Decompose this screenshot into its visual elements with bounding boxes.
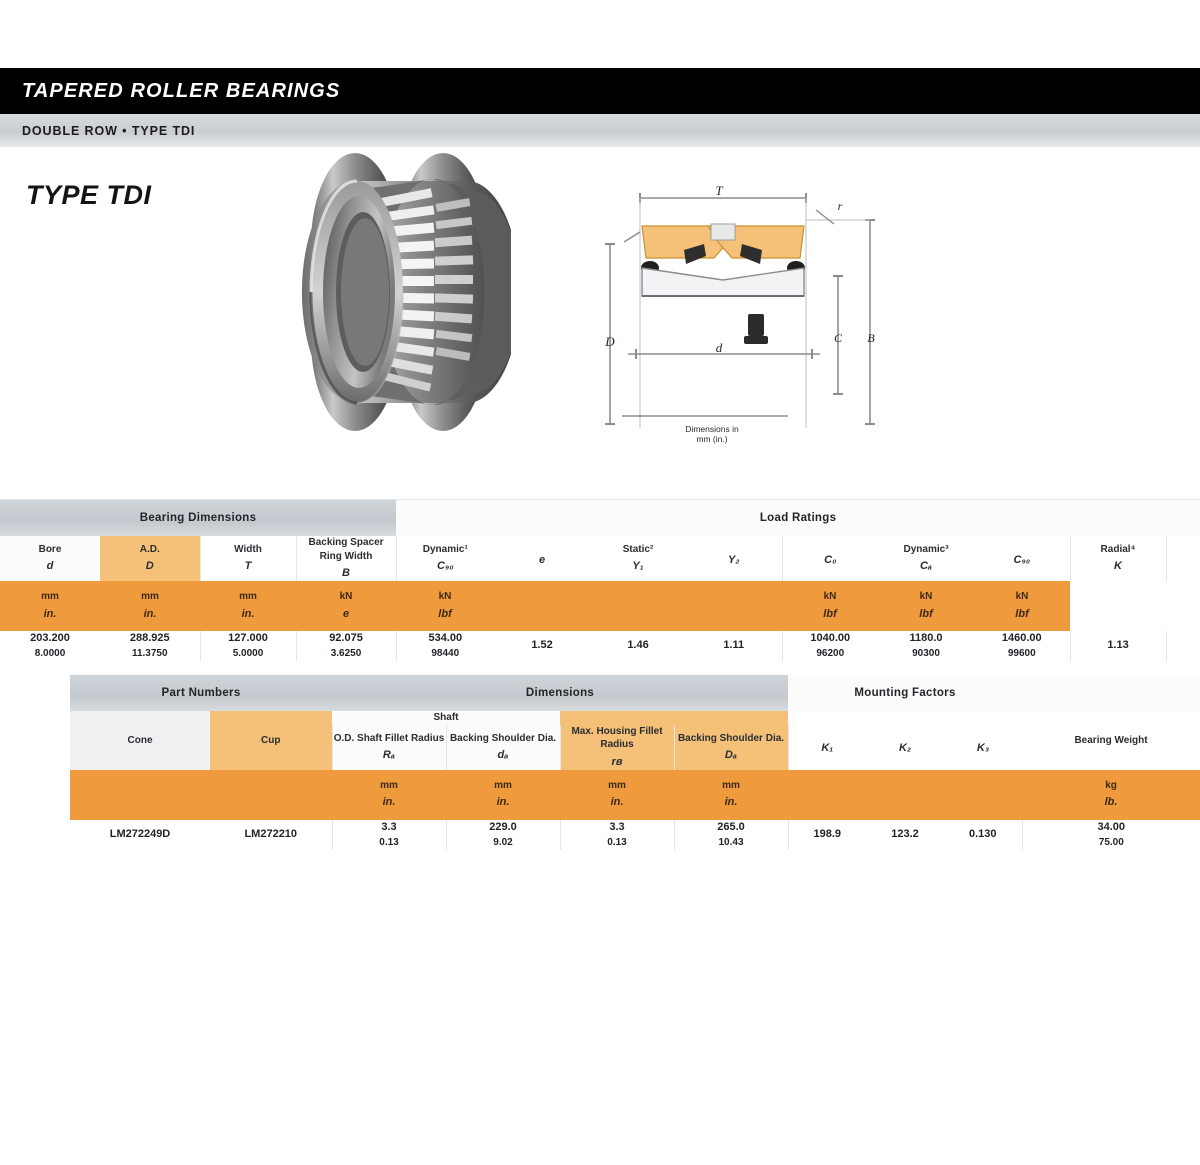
subgroup-shaft: Shaft (332, 711, 560, 725)
units-k-blank (1070, 581, 1166, 631)
cell-y1: 1.46 (590, 631, 686, 661)
cell-cup-part-number: LM272210 (210, 820, 332, 850)
cell-housing-dia: 265.0 10.43 (674, 820, 788, 850)
cell-dynamic-c90: 534.00 98440 (396, 631, 494, 661)
cell-k2: 123.2 (866, 820, 944, 850)
col-cone: Cone (70, 711, 210, 769)
units2-cone (70, 770, 210, 820)
units2-k1 (788, 770, 866, 820)
units2-housing-radius: mm in. (560, 770, 674, 820)
col-width: Width T (200, 536, 296, 581)
table2-group-header-row: Part Numbers Dimensions Mounting Factors (70, 675, 1200, 711)
cell-bore: 203.200 8.0000 (0, 631, 100, 661)
col-static-c0: C₀ (782, 536, 878, 581)
part-numbers-table: Part Numbers Dimensions Mounting Factors… (0, 675, 1200, 850)
col-bearing-weight: Bearing Weight (1022, 711, 1200, 769)
col-shaft-backing-shoulder-dia: Backing Shoulder Dia. dₐ (446, 725, 560, 770)
units-ca: kN lbf (878, 581, 974, 631)
col-dynamic-c90: Dynamic¹ C₉₀ (396, 536, 494, 581)
units-width: mm in. (200, 581, 296, 631)
units-dynamic-c90: kN lbf (396, 581, 494, 631)
table1: Bearing Dimensions Load Ratings Bore d A… (0, 500, 1200, 661)
group-mounting-factors: Mounting Factors (788, 675, 1022, 711)
table1-column-header-row: Bore d A.D. D Width T Backing Spacer Rin… (0, 536, 1200, 581)
col-dynamic-c90-2: C₉₀ (974, 536, 1070, 581)
bearing-dimensions-table: Bearing Dimensions Load Ratings Bore d A… (0, 500, 1200, 661)
cell-bearing-weight: 34.00 75.00 (1022, 820, 1200, 850)
units-od: mm in. (100, 581, 200, 631)
dimension-label-r: r (838, 199, 843, 213)
bearing-photo (283, 153, 511, 431)
table1-group-header-row: Bearing Dimensions Load Ratings (0, 500, 1200, 536)
diagram-footnote: Dimensions in (685, 424, 739, 434)
cell-housing-radius: 3.3 0.13 (560, 820, 674, 850)
units-e (494, 581, 590, 631)
cell-k3: 0.130 (944, 820, 1022, 850)
page-subtitle: DOUBLE ROW • TYPE TDI (22, 124, 195, 138)
col-cup: Cup (210, 711, 332, 769)
col-k1: K₁ (788, 725, 866, 770)
cell-k1: 198.9 (788, 820, 866, 850)
cell-e: 1.52 (494, 631, 590, 661)
units2-k3 (944, 770, 1022, 820)
col-factor-e: e (494, 536, 590, 581)
units-c90b: kN lbf (974, 581, 1070, 631)
dimension-label-C: C (834, 331, 843, 345)
cell-width: 127.000 5.0000 (200, 631, 296, 661)
group-weight-blank (1022, 675, 1200, 711)
cell-c90b: 1460.00 99600 (974, 631, 1070, 661)
table2-data-row[interactable]: LM272249D LM272210 3.3 0.13 229.0 9.02 3… (70, 820, 1200, 850)
cell-od: 288.925 11.3750 (100, 631, 200, 661)
col-bore: Bore d (0, 536, 100, 581)
cell-cone-part-number: LM272249D (70, 820, 210, 850)
table2-units-highlight-row: mm in. mm in. mm in. mm in. kg lb. (70, 770, 1200, 820)
col-shaft-fillet-radius: O.D. Shaft Fillet Radius Rₐ (332, 725, 446, 770)
group-part-numbers: Part Numbers (70, 675, 332, 711)
subgroup-factors-blank (788, 711, 1022, 725)
cell-ca: 1180.0 90300 (878, 631, 974, 661)
units-spacer (1166, 581, 1200, 631)
bearing-type-label: TYPE TDI (26, 180, 152, 211)
dimension-label-D: D (604, 334, 615, 349)
units2-weight: kg lb. (1022, 770, 1200, 820)
table1-units-highlight-row: mm in. mm in. mm in. kN e kN lbf (0, 581, 1200, 631)
table2-subgroup-row: Cone Cup Shaft Bearing Weight (70, 711, 1200, 725)
units2-housing-dia: mm in. (674, 770, 788, 820)
group-load-ratings: Load Ratings (396, 500, 1200, 536)
cell-y2: 1.11 (686, 631, 782, 661)
col-static-y2: Y₂ (686, 536, 782, 581)
cell-shaft-radius: 3.3 0.13 (332, 820, 446, 850)
diagram-footnote-units: mm (in.) (696, 434, 727, 444)
col-radial-k: Radial⁴ K (1070, 536, 1166, 581)
units2-k2 (866, 770, 944, 820)
col-backing-spacer-ring-width: Backing Spacer Ring Width B (296, 536, 396, 581)
page-title: TAPERED ROLLER BEARINGS (22, 80, 340, 103)
col-k3: K₃ (944, 725, 1022, 770)
units2-shaft-dia: mm in. (446, 770, 560, 820)
cell-k: 1.13 (1070, 631, 1166, 661)
subgroup-housing (560, 711, 788, 725)
units-bore: mm in. (0, 581, 100, 631)
col-outer-diameter: A.D. D (100, 536, 200, 581)
cell-shaft-dia: 229.0 9.02 (446, 820, 560, 850)
col-dynamic-ca: Dynamic³ Cₐ (878, 536, 974, 581)
dimension-label-d: d (716, 340, 723, 355)
page-top-margin (0, 0, 1200, 68)
table2: Part Numbers Dimensions Mounting Factors… (70, 675, 1200, 850)
cell-c0: 1040.00 96200 (782, 631, 878, 661)
dimension-label-T: T (715, 183, 723, 198)
units2-shaft-radius: mm in. (332, 770, 446, 820)
units2-cup (210, 770, 332, 820)
col-spacer-right (1166, 536, 1200, 581)
group-dimensions: Dimensions (332, 675, 788, 711)
col-housing-fillet-radius: Max. Housing Fillet Radius rв (560, 725, 674, 770)
cell-backing: 92.075 3.6250 (296, 631, 396, 661)
units-c0: kN lbf (782, 581, 878, 631)
col-static-y1: Static² Y₁ (590, 536, 686, 581)
page-subtitle-bar: DOUBLE ROW • TYPE TDI (0, 114, 1200, 148)
illustration-section: TYPE TDI (0, 148, 1200, 500)
cross-section-diagram: T (588, 176, 900, 448)
col-k2: K₂ (866, 725, 944, 770)
dimension-label-B: B (867, 331, 875, 345)
units-backing: kN e (296, 581, 396, 631)
page-title-bar: TAPERED ROLLER BEARINGS (0, 68, 1200, 114)
cell-spacer (1166, 631, 1200, 661)
group-bearing-dimensions: Bearing Dimensions (0, 500, 396, 536)
units-y2 (686, 581, 782, 631)
table1-data-row[interactable]: 203.200 8.0000 288.925 11.3750 127.000 5… (0, 631, 1200, 661)
units-y1 (590, 581, 686, 631)
col-housing-backing-shoulder-dia: Backing Shoulder Dia. Dₐ (674, 725, 788, 770)
